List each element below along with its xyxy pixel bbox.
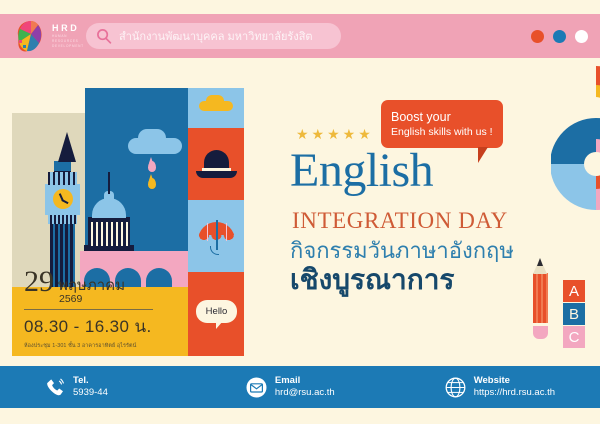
event-time: 08.30 - 16.30 น. [24, 313, 174, 340]
color-wheel-bottom-icon [551, 118, 600, 210]
hello-speech-bubble: Hello [196, 300, 237, 323]
dot-white[interactable] [575, 30, 588, 43]
event-date-block: 29 พฤษภาคม 2569 08.30 - 16.30 น. ห้องประ… [24, 268, 174, 350]
footer-email-label: Email [275, 375, 335, 387]
phone-icon [44, 377, 65, 398]
footer-email[interactable]: Email hrd@rsu.ac.th [246, 375, 335, 399]
poster-canvas: HRD HUMAN RESOURCES DEVELOPMENT สำนักงาน… [0, 0, 600, 424]
cloud-yellow-icon-top [206, 95, 224, 107]
footer-tel[interactable]: Tel. 5939-44 [44, 375, 108, 399]
logo-subtitle-3: DEVELOPMENT [52, 44, 84, 48]
big-ben-under [48, 215, 77, 224]
window-dots [531, 14, 588, 58]
title-thai-line-2: เชิงบูรณาการ [290, 263, 454, 297]
logo-subtitle-1: HUMAN [52, 34, 84, 38]
event-venue: ห้องประชุม 1-301 ชั้น 3 อาคารอาทิตย์ อุไ… [24, 342, 174, 350]
event-day: 29 [24, 268, 54, 296]
header-bar: HRD HUMAN RESOURCES DEVELOPMENT สำนักงาน… [0, 14, 600, 58]
big-ben-spire [58, 132, 76, 162]
date-divider [24, 309, 153, 310]
title-thai-line-1: กิจกรรมวันภาษาอังกฤษ [290, 238, 514, 264]
raindrop-yellow-icon [148, 178, 156, 189]
umbrella-rib-1 [207, 223, 208, 241]
promo-bubble-tail [478, 147, 488, 163]
footer-tel-value: 5939-44 [73, 387, 108, 399]
big-ben-neck [54, 161, 71, 171]
raindrop-pink-icon [148, 161, 156, 172]
footer-website[interactable]: Website https://hrd.rsu.ac.th [445, 375, 555, 399]
cathedral-columns [88, 222, 130, 246]
letter-block-a: A [563, 280, 585, 302]
icon-strip: Hello [188, 88, 244, 356]
cathedral-spire [108, 172, 110, 194]
bowler-hat-brim [196, 171, 237, 178]
promo-speech-bubble: Boost your English skills with us ! [381, 100, 503, 148]
promo-line-1: Boost your [391, 110, 503, 125]
hrd-logo[interactable]: HRD HUMAN RESOURCES DEVELOPMENT [0, 14, 86, 58]
promo-line-2: English skills with us ! [391, 125, 503, 139]
footer-tel-label: Tel. [73, 375, 108, 387]
pencil-lead [537, 258, 543, 266]
footer-email-value: hrd@rsu.ac.th [275, 387, 335, 399]
pencil-eraser [533, 326, 548, 339]
dot-red[interactable] [531, 30, 544, 43]
search-icon [96, 28, 112, 44]
footer-website-value: https://hrd.rsu.ac.th [474, 387, 555, 399]
letter-block-b: B [563, 303, 585, 325]
search-input[interactable]: สำนักงานพัฒนาบุคคล มหาวิทยาลัยรังสิต [119, 27, 313, 45]
footer-website-label: Website [474, 375, 555, 387]
rating-stars: ★★★★★ [296, 126, 374, 143]
hrd-brain-icon [14, 20, 48, 53]
umbrella-rib-2 [226, 223, 227, 241]
cloud-icon-top [138, 129, 166, 147]
logo-subtitle-2: RESOURCES [52, 39, 84, 43]
search-bar[interactable]: สำนักงานพัฒนาบุคคล มหาวิทยาลัยรังสิต [86, 23, 341, 49]
logo-wordmark: HRD HUMAN RESOURCES DEVELOPMENT [52, 23, 84, 49]
letter-block-c: C [563, 326, 585, 348]
title-integration-day: INTEGRATION DAY [292, 208, 508, 234]
title-english: English [290, 145, 433, 197]
envelope-icon [246, 377, 267, 398]
contact-footer: Tel. 5939-44 Email hrd@rsu.ac.th [0, 366, 600, 408]
globe-icon [445, 377, 466, 398]
big-ben-belfry-bars [48, 172, 77, 185]
logo-title: HRD [52, 23, 84, 33]
hello-text: Hello [206, 306, 228, 317]
event-date-row: 29 พฤษภาคม [24, 268, 174, 296]
dot-blue[interactable] [553, 30, 566, 43]
pencil-icon [533, 273, 548, 324]
